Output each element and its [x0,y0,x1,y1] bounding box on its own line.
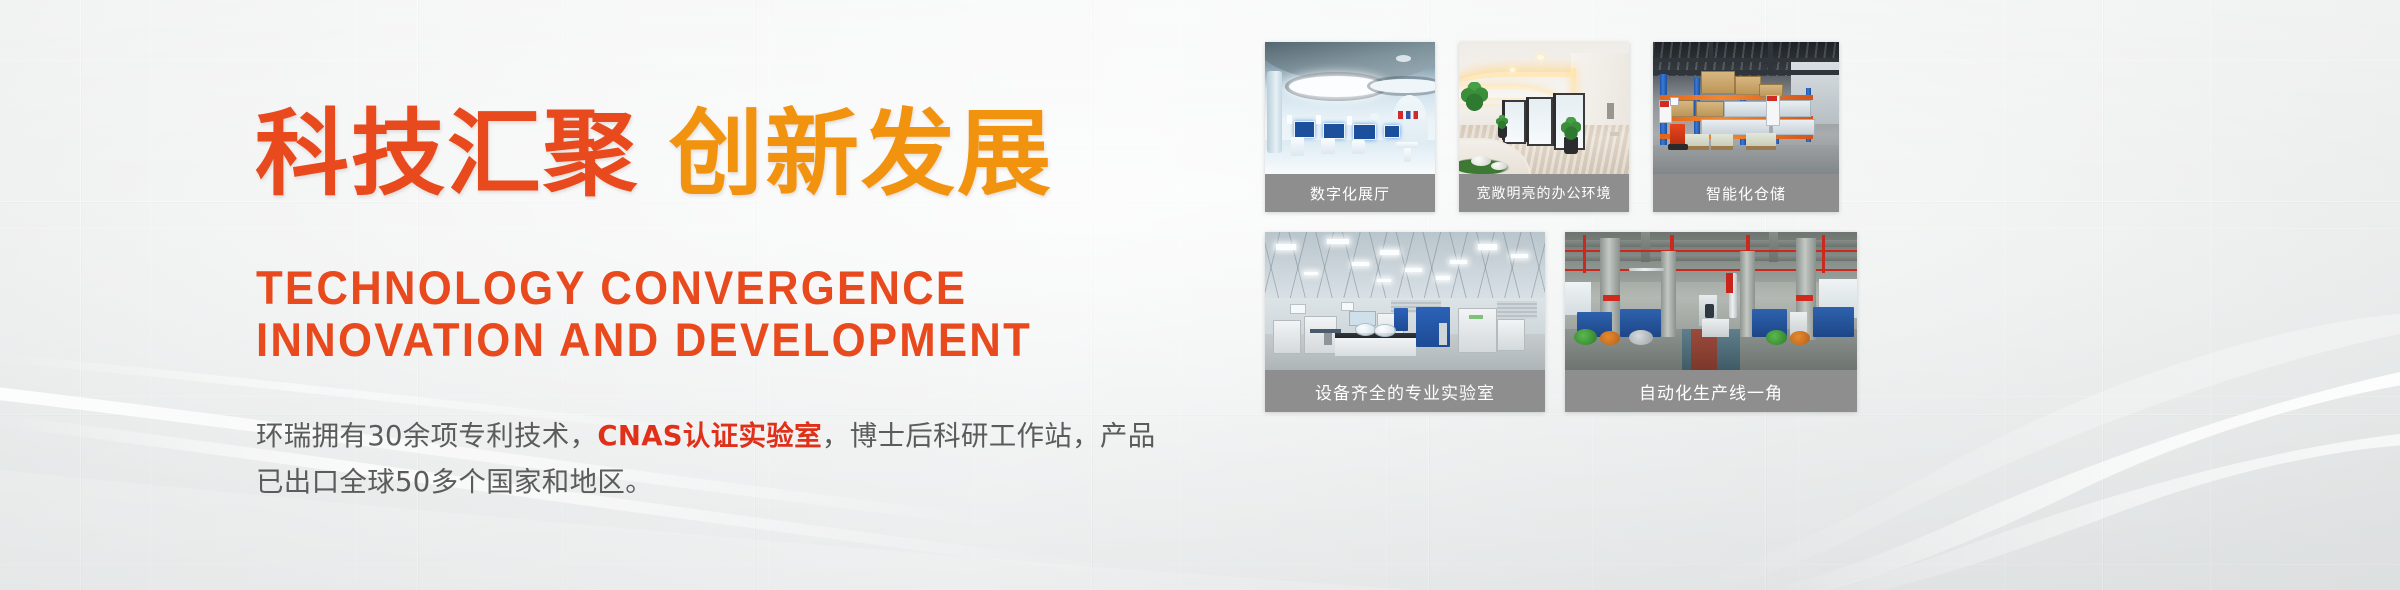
caption-text: 智能化仓储 [1706,183,1786,204]
description-highlight: CNAS认证实验室 [597,420,822,452]
caption-text: 自动化生产线一角 [1639,379,1783,404]
scene-bright-office [1459,42,1629,174]
photo-card-production-line[interactable]: 自动化生产线一角 [1565,232,1857,412]
photo-production-line [1565,232,1857,370]
photo-card-smart-warehouse[interactable]: 智能化仓储 [1653,42,1839,212]
photo-caption: 宽敞明亮的办公环境 [1459,174,1629,212]
photo-laboratory [1265,232,1545,370]
company-description: 环瑞拥有30余项专利技术，CNAS认证实验室，博士后科研工作站，产品已出口全球5… [256,413,1161,505]
facility-photo-grid: 数字化展厅 [1265,42,2185,562]
photo-card-laboratory[interactable]: 设备齐全的专业实验室 [1265,232,1545,412]
description-segment-1: 环瑞拥有30余项专利技术， [256,420,597,452]
english-subtitle-line-2: INNOVATION AND DEVELOPMENT [256,314,1032,366]
scene-smart-warehouse [1653,42,1839,174]
caption-text: 宽敞明亮的办公环境 [1477,183,1612,203]
photo-caption: 智能化仓储 [1653,174,1839,212]
photo-card-bright-office[interactable]: 宽敞明亮的办公环境 [1459,42,1629,212]
company-strength-banner: 科技汇聚创新发展 TECHNOLOGY CONVERGENCE INNOVATI… [0,0,2400,590]
scene-equipped-laboratory [1265,232,1545,370]
scene-digital-showroom [1265,42,1435,174]
photo-caption: 设备齐全的专业实验室 [1265,370,1545,412]
caption-text: 数字化展厅 [1310,183,1390,204]
photo-bright-office [1459,42,1629,174]
photo-caption: 自动化生产线一角 [1565,370,1857,412]
headline-primary: 科技汇聚 [255,100,639,209]
photo-caption: 数字化展厅 [1265,174,1435,212]
english-subtitle-line-1: TECHNOLOGY CONVERGENCE [256,262,967,314]
photo-smart-warehouse [1653,42,1839,174]
page-title: 科技汇聚创新发展 [255,108,1053,202]
caption-text: 设备齐全的专业实验室 [1315,379,1495,404]
headline-secondary: 创新发展 [669,100,1053,209]
photo-digital-showroom [1265,42,1435,174]
scene-automated-production [1565,232,1857,370]
photo-card-digital-showroom[interactable]: 数字化展厅 [1265,42,1435,212]
banner-text-block: 科技汇聚创新发展 TECHNOLOGY CONVERGENCE INNOVATI… [0,0,1230,590]
